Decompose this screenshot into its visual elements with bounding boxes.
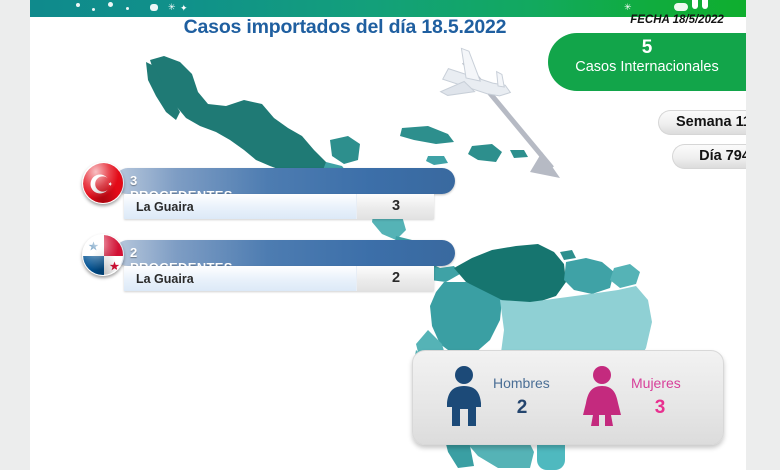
- fecha-label: FECHA 18/5/2022: [608, 14, 746, 26]
- gender-cell-mujeres: Mujeres 3: [581, 365, 623, 432]
- turkey-flag-icon: [82, 162, 124, 204]
- virus-icon-2: ✳: [624, 3, 632, 12]
- row-value: 3: [357, 194, 435, 219]
- virus-icon: ✳: [168, 3, 176, 12]
- map-region-yucatan: [330, 136, 360, 164]
- infographic-root: ✳ ✦ ✳ Casos importados del día 18.5.2022…: [0, 0, 780, 470]
- international-cases-count: 5: [548, 37, 746, 58]
- international-cases-summary: 5 Casos Internacionales: [548, 33, 746, 91]
- panama-flag-icon: [82, 234, 124, 276]
- dia-badge: Día 794: [672, 144, 746, 169]
- gender-breakdown-panel: Hombres 2 Mujeres 3: [412, 350, 724, 445]
- female-figure-icon: [581, 365, 623, 427]
- map-region-hispaniola: [468, 144, 502, 162]
- map-region-puerto-rico: [510, 150, 528, 158]
- gender-label: Hombres: [493, 375, 550, 391]
- content-canvas: ✳ ✦ ✳ Casos importados del día 18.5.2022…: [30, 0, 746, 470]
- gender-value: 3: [631, 397, 689, 419]
- map-region-cuba: [400, 126, 454, 144]
- gender-cell-hombres: Hombres 2: [443, 365, 485, 432]
- semana-badge: Semana 114: [658, 110, 746, 135]
- row-value-cell: 2: [356, 266, 434, 291]
- sparkle-icon: ✦: [180, 4, 188, 13]
- gender-label: Mujeres: [631, 375, 681, 391]
- row-location: La Guaira: [136, 200, 194, 214]
- row-location: La Guaira: [136, 272, 194, 286]
- row-value-cell: 3: [356, 194, 434, 219]
- map-region-guyanas: [564, 258, 614, 294]
- table-row: La Guaira 2: [124, 266, 434, 291]
- map-region-suriname: [610, 264, 640, 288]
- page-title: Casos importados del día 18.5.2022: [130, 16, 560, 39]
- gender-value: 2: [493, 397, 551, 419]
- map-region-jamaica: [426, 156, 448, 165]
- table-row: La Guaira 3: [124, 194, 434, 219]
- male-figure-icon: [443, 365, 485, 427]
- row-value: 2: [357, 266, 435, 291]
- international-cases-label: Casos Internacionales: [548, 58, 746, 76]
- map-region-trinidad: [560, 250, 576, 260]
